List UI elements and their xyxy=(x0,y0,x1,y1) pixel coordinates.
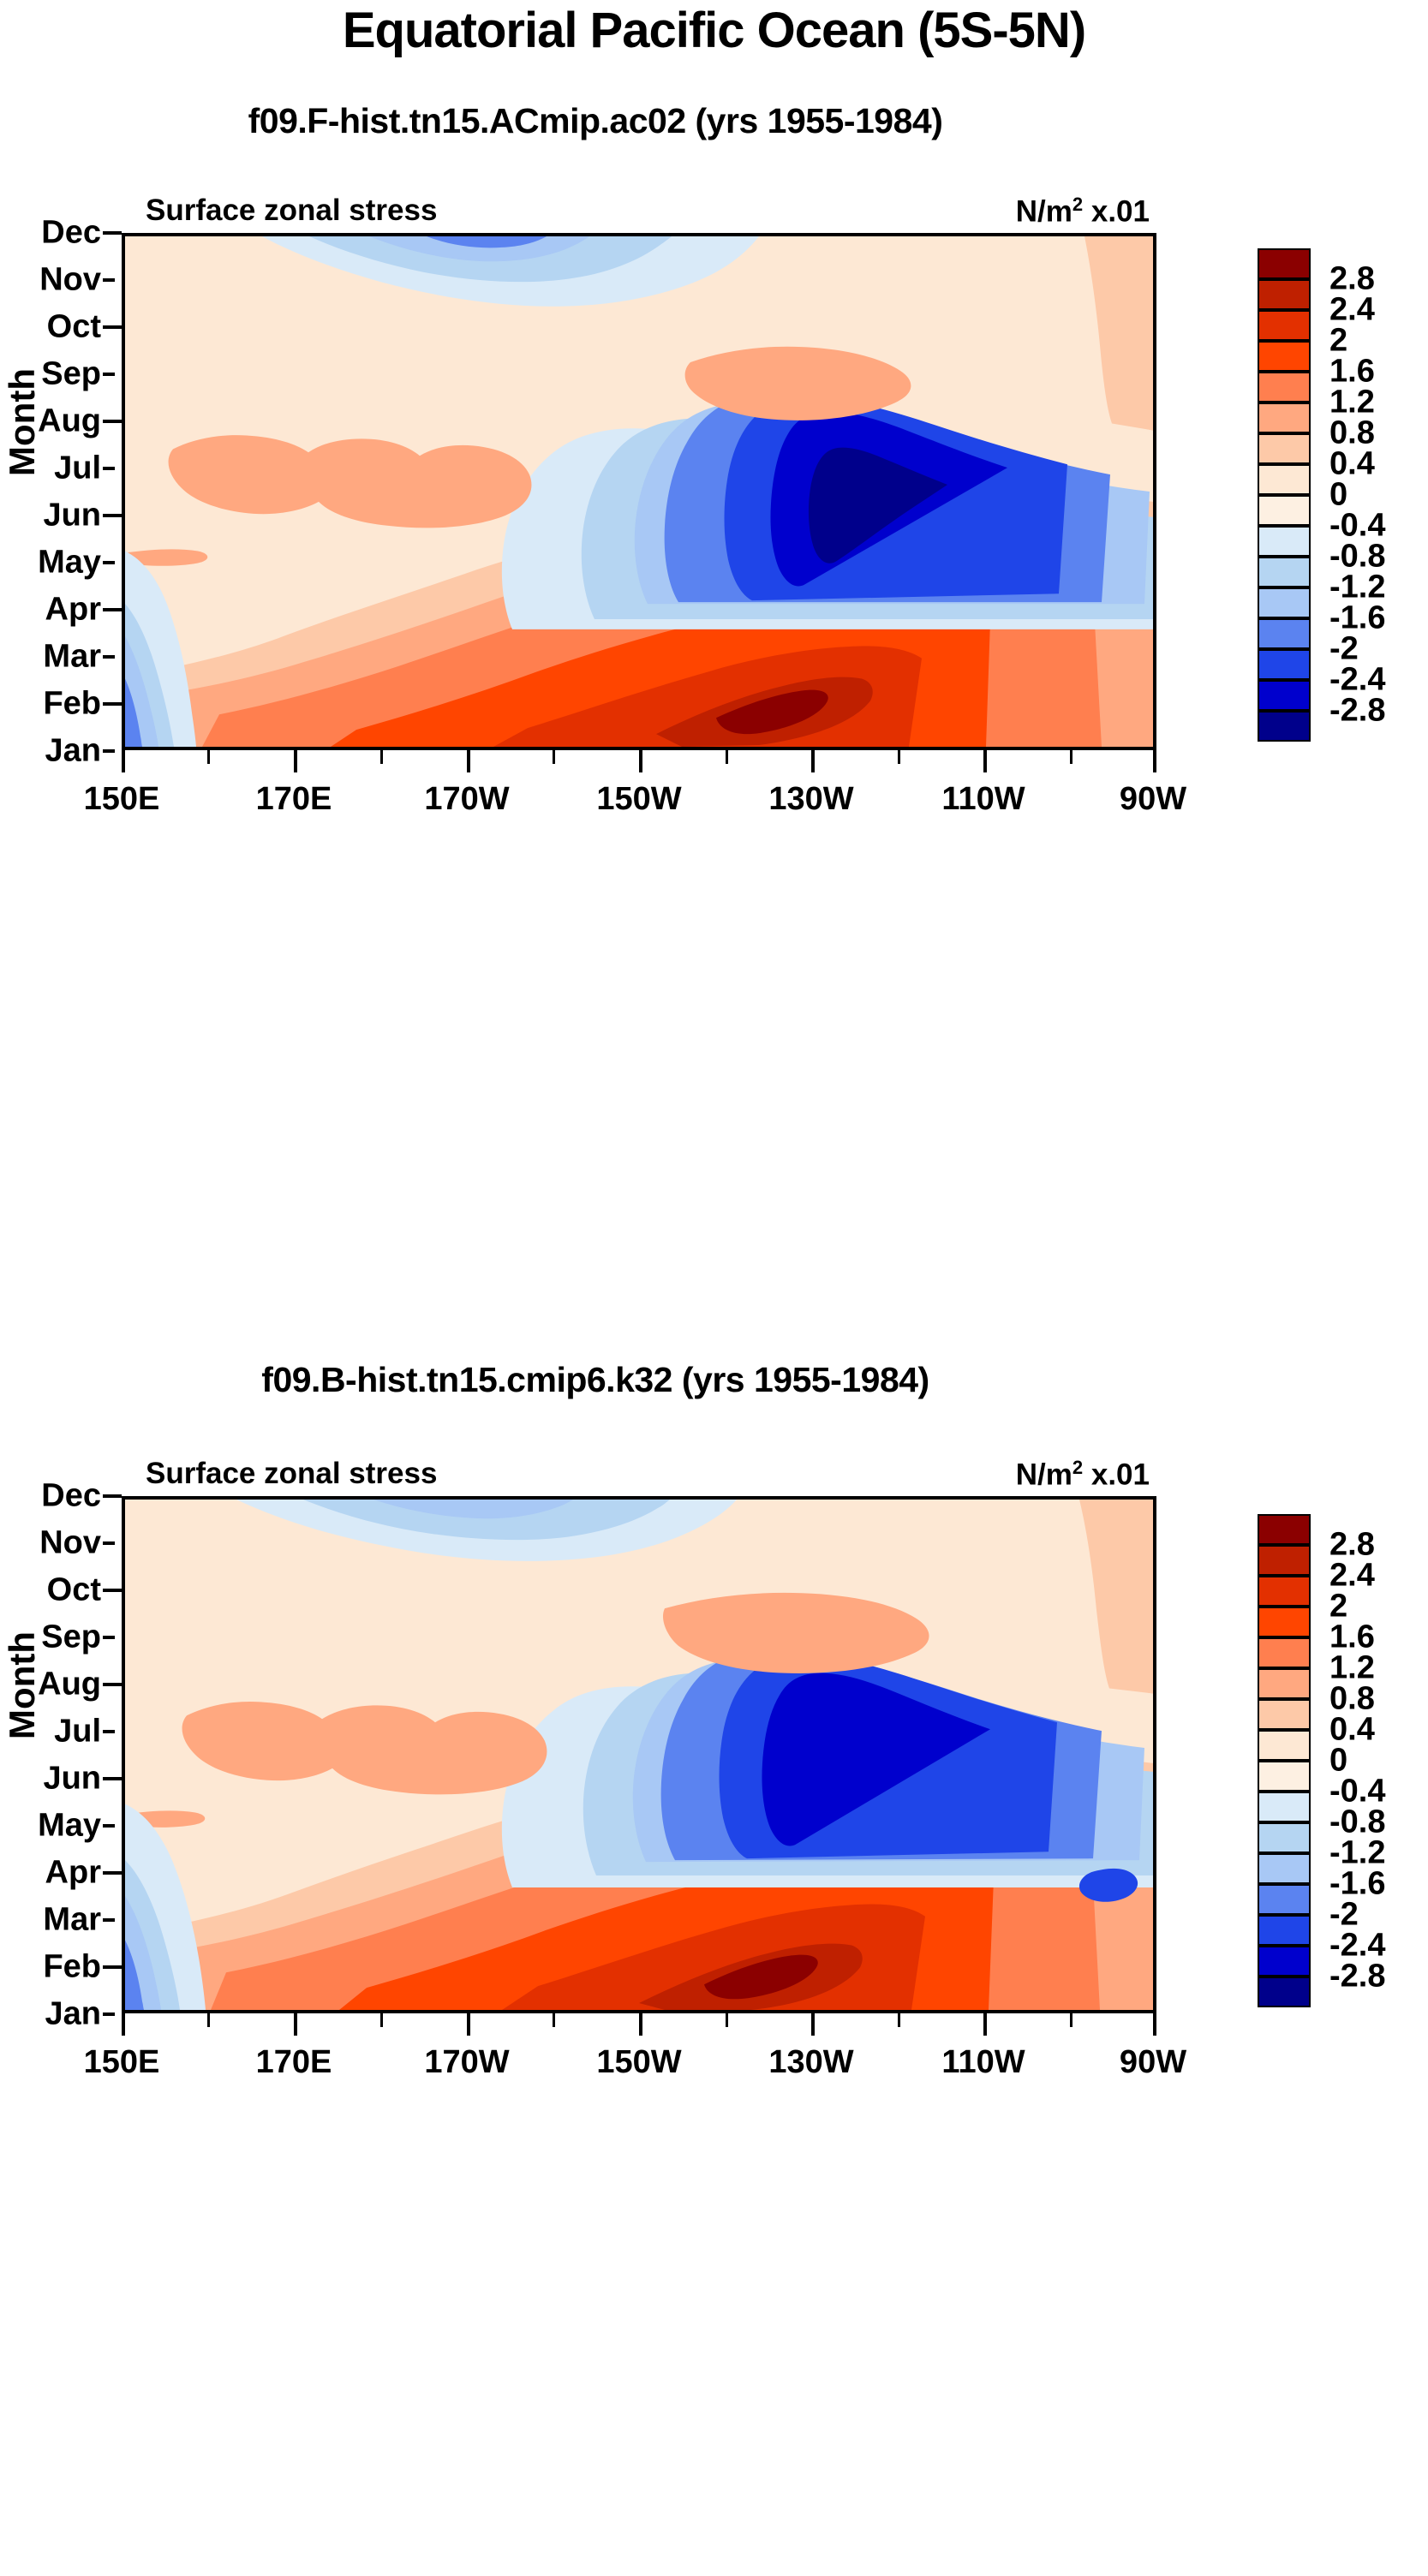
x-tick-mark xyxy=(1070,750,1072,764)
x-tick-label: 150W xyxy=(596,781,681,818)
y-tick-mark xyxy=(103,702,122,706)
y-tick-mark xyxy=(103,1683,122,1686)
y-tick-mark xyxy=(103,608,122,611)
plot-header-1: Surface zonal stress N/m2 x.01 xyxy=(122,194,1156,230)
x-tick-mark xyxy=(122,2013,125,2036)
y-tick-mark xyxy=(103,1777,122,1780)
colorbar-swatch xyxy=(1258,557,1311,587)
y-tick-label: Nov xyxy=(39,1525,101,1562)
field-label: Surface zonal stress xyxy=(146,1457,437,1491)
y-tick-label: Jun xyxy=(43,498,101,534)
x-tick-label: 170W xyxy=(424,781,509,818)
units-label: N/m2 x.01 xyxy=(1016,1457,1150,1493)
colorbar-swatch xyxy=(1258,1915,1311,1946)
y-tick-mark xyxy=(103,1871,122,1875)
x-tick-mark xyxy=(553,750,555,764)
y-tick-label: Apr xyxy=(45,1855,101,1892)
colorbar-swatch xyxy=(1258,310,1311,341)
colorbar-swatch xyxy=(1258,341,1311,372)
y-tick-label: Feb xyxy=(43,1949,101,1986)
x-tick-mark xyxy=(380,750,383,764)
y-tick-mark xyxy=(103,1918,115,1922)
y-tick-mark xyxy=(103,1636,115,1639)
x-tick-label: 150E xyxy=(84,2044,160,2081)
colorbar-1: 2.82.421.61.20.80.40-0.4-0.8-1.2-1.6-2-2… xyxy=(1258,248,1311,742)
y-tick-mark xyxy=(103,1730,115,1733)
y-tick-mark xyxy=(103,1589,122,1592)
colorbar-swatch xyxy=(1258,526,1311,557)
y-tick-label: Aug xyxy=(38,403,101,440)
x-tick-mark xyxy=(898,750,900,764)
y-tick-mark xyxy=(103,1965,122,1969)
x-tick-mark xyxy=(553,2013,555,2027)
y-tick-mark xyxy=(103,1541,115,1545)
y-tick-label: May xyxy=(38,1808,101,1845)
field-label: Surface zonal stress xyxy=(146,194,437,228)
y-tick-mark xyxy=(103,278,115,282)
y-tick-mark xyxy=(103,325,122,329)
x-tick-label: 130W xyxy=(768,2044,853,2081)
colorbar-swatch xyxy=(1258,1730,1311,1761)
x-tick-mark xyxy=(294,750,297,772)
x-tick-mark xyxy=(898,2013,900,2027)
colorbar-swatch xyxy=(1258,248,1311,279)
x-tick-mark xyxy=(726,750,728,764)
y-tick-mark xyxy=(103,2012,115,2016)
y-tick-label: Jul xyxy=(54,1714,101,1750)
colorbar-swatch xyxy=(1258,1822,1311,1853)
plot-header-2: Surface zonal stress N/m2 x.01 xyxy=(122,1457,1156,1493)
y-tick-label: Feb xyxy=(43,686,101,723)
y-tick-label: Oct xyxy=(47,1572,101,1609)
figure-root: Equatorial Pacific Ocean (5S-5N) f09.F-h… xyxy=(0,0,1428,2576)
x-tick-mark xyxy=(467,750,470,772)
colorbar-2: 2.82.421.61.20.80.40-0.4-0.8-1.2-1.6-2-2… xyxy=(1258,1514,1311,2007)
y-tick-label: Nov xyxy=(39,262,101,299)
y-axis-title-1: Month xyxy=(2,368,43,476)
panel-2-title: f09.B-hist.tn15.cmip6.k32 (yrs 1955-1984… xyxy=(0,1360,1191,1400)
x-tick-mark xyxy=(207,750,210,764)
x-tick-mark xyxy=(983,750,987,772)
y-tick-label: Jan xyxy=(45,733,101,770)
x-tick-mark xyxy=(1070,2013,1072,2027)
y-tick-label: Aug xyxy=(38,1667,101,1703)
colorbar-swatch xyxy=(1258,495,1311,526)
y-tick-mark xyxy=(103,420,122,423)
x-tick-mark xyxy=(380,2013,383,2027)
x-tick-label: 90W xyxy=(1120,2044,1186,2081)
x-tick-mark xyxy=(811,750,815,772)
contour-field-2 xyxy=(122,1496,1156,2013)
x-tick-label: 110W xyxy=(941,2044,1025,2081)
x-tick-mark xyxy=(983,2013,987,2036)
colorbar-swatch xyxy=(1258,402,1311,433)
contour-field-1 xyxy=(122,233,1156,750)
colorbar-tick-label: -2.8 xyxy=(1329,693,1385,730)
colorbar-swatch xyxy=(1258,1792,1311,1822)
y-tick-label: Apr xyxy=(45,592,101,629)
y-tick-label: Sep xyxy=(41,356,101,393)
y-tick-label: Jun xyxy=(43,1761,101,1798)
colorbar-swatch xyxy=(1258,1761,1311,1792)
y-tick-mark xyxy=(103,655,115,659)
y-tick-mark xyxy=(103,1824,115,1828)
y-tick-mark xyxy=(103,231,122,235)
colorbar-swatch xyxy=(1258,618,1311,649)
y-axis-title-2: Month xyxy=(2,1631,43,1739)
colorbar-tick-label: -2.8 xyxy=(1329,1959,1385,1995)
y-tick-label: Oct xyxy=(47,309,101,346)
colorbar-swatch xyxy=(1258,649,1311,680)
x-tick-mark xyxy=(467,2013,470,2036)
x-tick-label: 170E xyxy=(256,2044,332,2081)
panel-1-title: f09.F-hist.tn15.ACmip.ac02 (yrs 1955-198… xyxy=(0,101,1191,141)
x-tick-mark xyxy=(811,2013,815,2036)
contour-plot-2: Surface zonal stress N/m2 x.01 xyxy=(122,1496,1156,2013)
x-tick-mark xyxy=(1153,2013,1156,2036)
colorbar-swatch xyxy=(1258,711,1311,742)
x-tick-mark xyxy=(726,2013,728,2027)
colorbar-swatch xyxy=(1258,1946,1311,1977)
colorbar-swatch xyxy=(1258,433,1311,464)
colorbar-swatch xyxy=(1258,587,1311,618)
y-tick-label: Dec xyxy=(41,1478,101,1515)
x-tick-label: 110W xyxy=(941,781,1025,818)
colorbar-swatch xyxy=(1258,1853,1311,1884)
colorbar-swatch xyxy=(1258,279,1311,310)
y-tick-mark xyxy=(103,1494,122,1498)
colorbar-swatch xyxy=(1258,372,1311,402)
x-tick-label: 150W xyxy=(596,2044,681,2081)
x-tick-mark xyxy=(639,750,642,772)
colorbar-swatch xyxy=(1258,1668,1311,1699)
x-tick-label: 90W xyxy=(1120,781,1186,818)
y-tick-label: Jan xyxy=(45,1996,101,2033)
colorbar-swatch xyxy=(1258,680,1311,711)
contour-plot-1: Surface zonal stress N/m2 x.01 xyxy=(122,233,1156,750)
x-tick-label: 130W xyxy=(768,781,853,818)
colorbar-swatch xyxy=(1258,1607,1311,1637)
x-tick-mark xyxy=(122,750,125,772)
y-tick-label: Jul xyxy=(54,450,101,487)
y-tick-label: Sep xyxy=(41,1619,101,1656)
colorbar-swatch xyxy=(1258,1977,1311,2007)
y-tick-mark xyxy=(103,373,115,376)
x-tick-label: 170W xyxy=(424,2044,509,2081)
x-tick-label: 170E xyxy=(256,781,332,818)
y-tick-label: Mar xyxy=(43,639,101,676)
y-tick-label: May xyxy=(38,545,101,581)
page-title: Equatorial Pacific Ocean (5S-5N) xyxy=(0,2,1428,59)
colorbar-swatch xyxy=(1258,1545,1311,1576)
colorbar-swatch xyxy=(1258,1637,1311,1668)
units-label: N/m2 x.01 xyxy=(1016,194,1150,230)
y-tick-mark xyxy=(103,561,115,564)
y-tick-mark xyxy=(103,749,115,753)
colorbar-swatch xyxy=(1258,1514,1311,1545)
colorbar-swatch xyxy=(1258,1884,1311,1915)
y-tick-label: Dec xyxy=(41,215,101,252)
y-tick-mark xyxy=(103,467,115,470)
colorbar-swatch xyxy=(1258,464,1311,495)
colorbar-swatch xyxy=(1258,1576,1311,1607)
x-tick-mark xyxy=(1153,750,1156,772)
y-tick-mark xyxy=(103,514,122,517)
x-tick-mark xyxy=(639,2013,642,2036)
x-tick-label: 150E xyxy=(84,781,160,818)
colorbar-swatch xyxy=(1258,1699,1311,1730)
x-tick-mark xyxy=(207,2013,210,2027)
y-tick-label: Mar xyxy=(43,1902,101,1939)
x-tick-mark xyxy=(294,2013,297,2036)
